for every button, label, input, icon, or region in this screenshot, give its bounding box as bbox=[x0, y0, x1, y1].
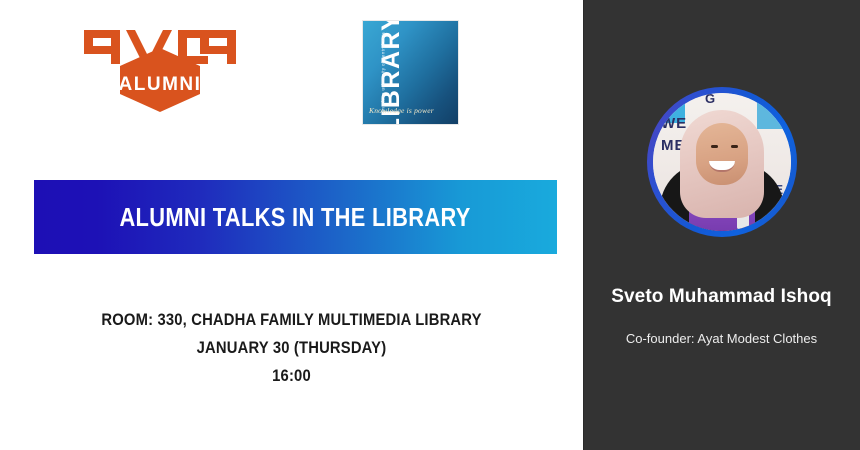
event-date-line: JANUARY 30 (THURSDAY) bbox=[38, 334, 545, 362]
event-details: ROOM: 330, CHADHA FAMILY MULTIMEDIA LIBR… bbox=[0, 306, 583, 390]
person-face bbox=[696, 123, 748, 185]
person-eye-left bbox=[711, 145, 718, 148]
person-eye-right bbox=[731, 145, 738, 148]
backdrop-blue-block-right bbox=[757, 93, 791, 129]
speaker-name: Sveto Muhammad Ishoq bbox=[583, 286, 860, 308]
auca-library-logo: LIBRARY american university of central a… bbox=[362, 20, 459, 125]
speaker-portrait: G WE MEN E bbox=[653, 93, 791, 231]
event-venue-line: ROOM: 330, CHADHA FAMILY MULTIMEDIA LIBR… bbox=[38, 306, 545, 334]
title-banner: ALUMNI TALKS IN THE LIBRARY bbox=[34, 180, 557, 254]
event-time-line: 16:00 bbox=[38, 362, 545, 390]
library-tagline: Knowledge is power bbox=[369, 106, 434, 115]
svg-text:ALUMNI: ALUMNI bbox=[119, 74, 202, 95]
poster-left-panel: ALUMNI auca ALUMNI LIBRARY american univ… bbox=[0, 0, 583, 450]
event-poster: ALUMNI auca ALUMNI LIBRARY american univ… bbox=[0, 0, 860, 450]
poster-title: ALUMNI TALKS IN THE LIBRARY bbox=[120, 202, 471, 233]
backdrop-text-top: G bbox=[705, 93, 716, 106]
speaker-role: Co-founder: Ayat Modest Clothes bbox=[583, 331, 860, 346]
speaker-portrait-ring: G WE MEN E bbox=[647, 87, 797, 237]
auca-alumni-logo: ALUMNI auca ALUMNI bbox=[80, 18, 240, 113]
backdrop-text-we: WE bbox=[661, 115, 687, 132]
panel-divider bbox=[583, 0, 584, 450]
speaker-panel: G WE MEN E Sveto Muhammad Ishoq Co-found… bbox=[583, 0, 860, 450]
library-subline: american university of central asia bbox=[381, 32, 386, 114]
